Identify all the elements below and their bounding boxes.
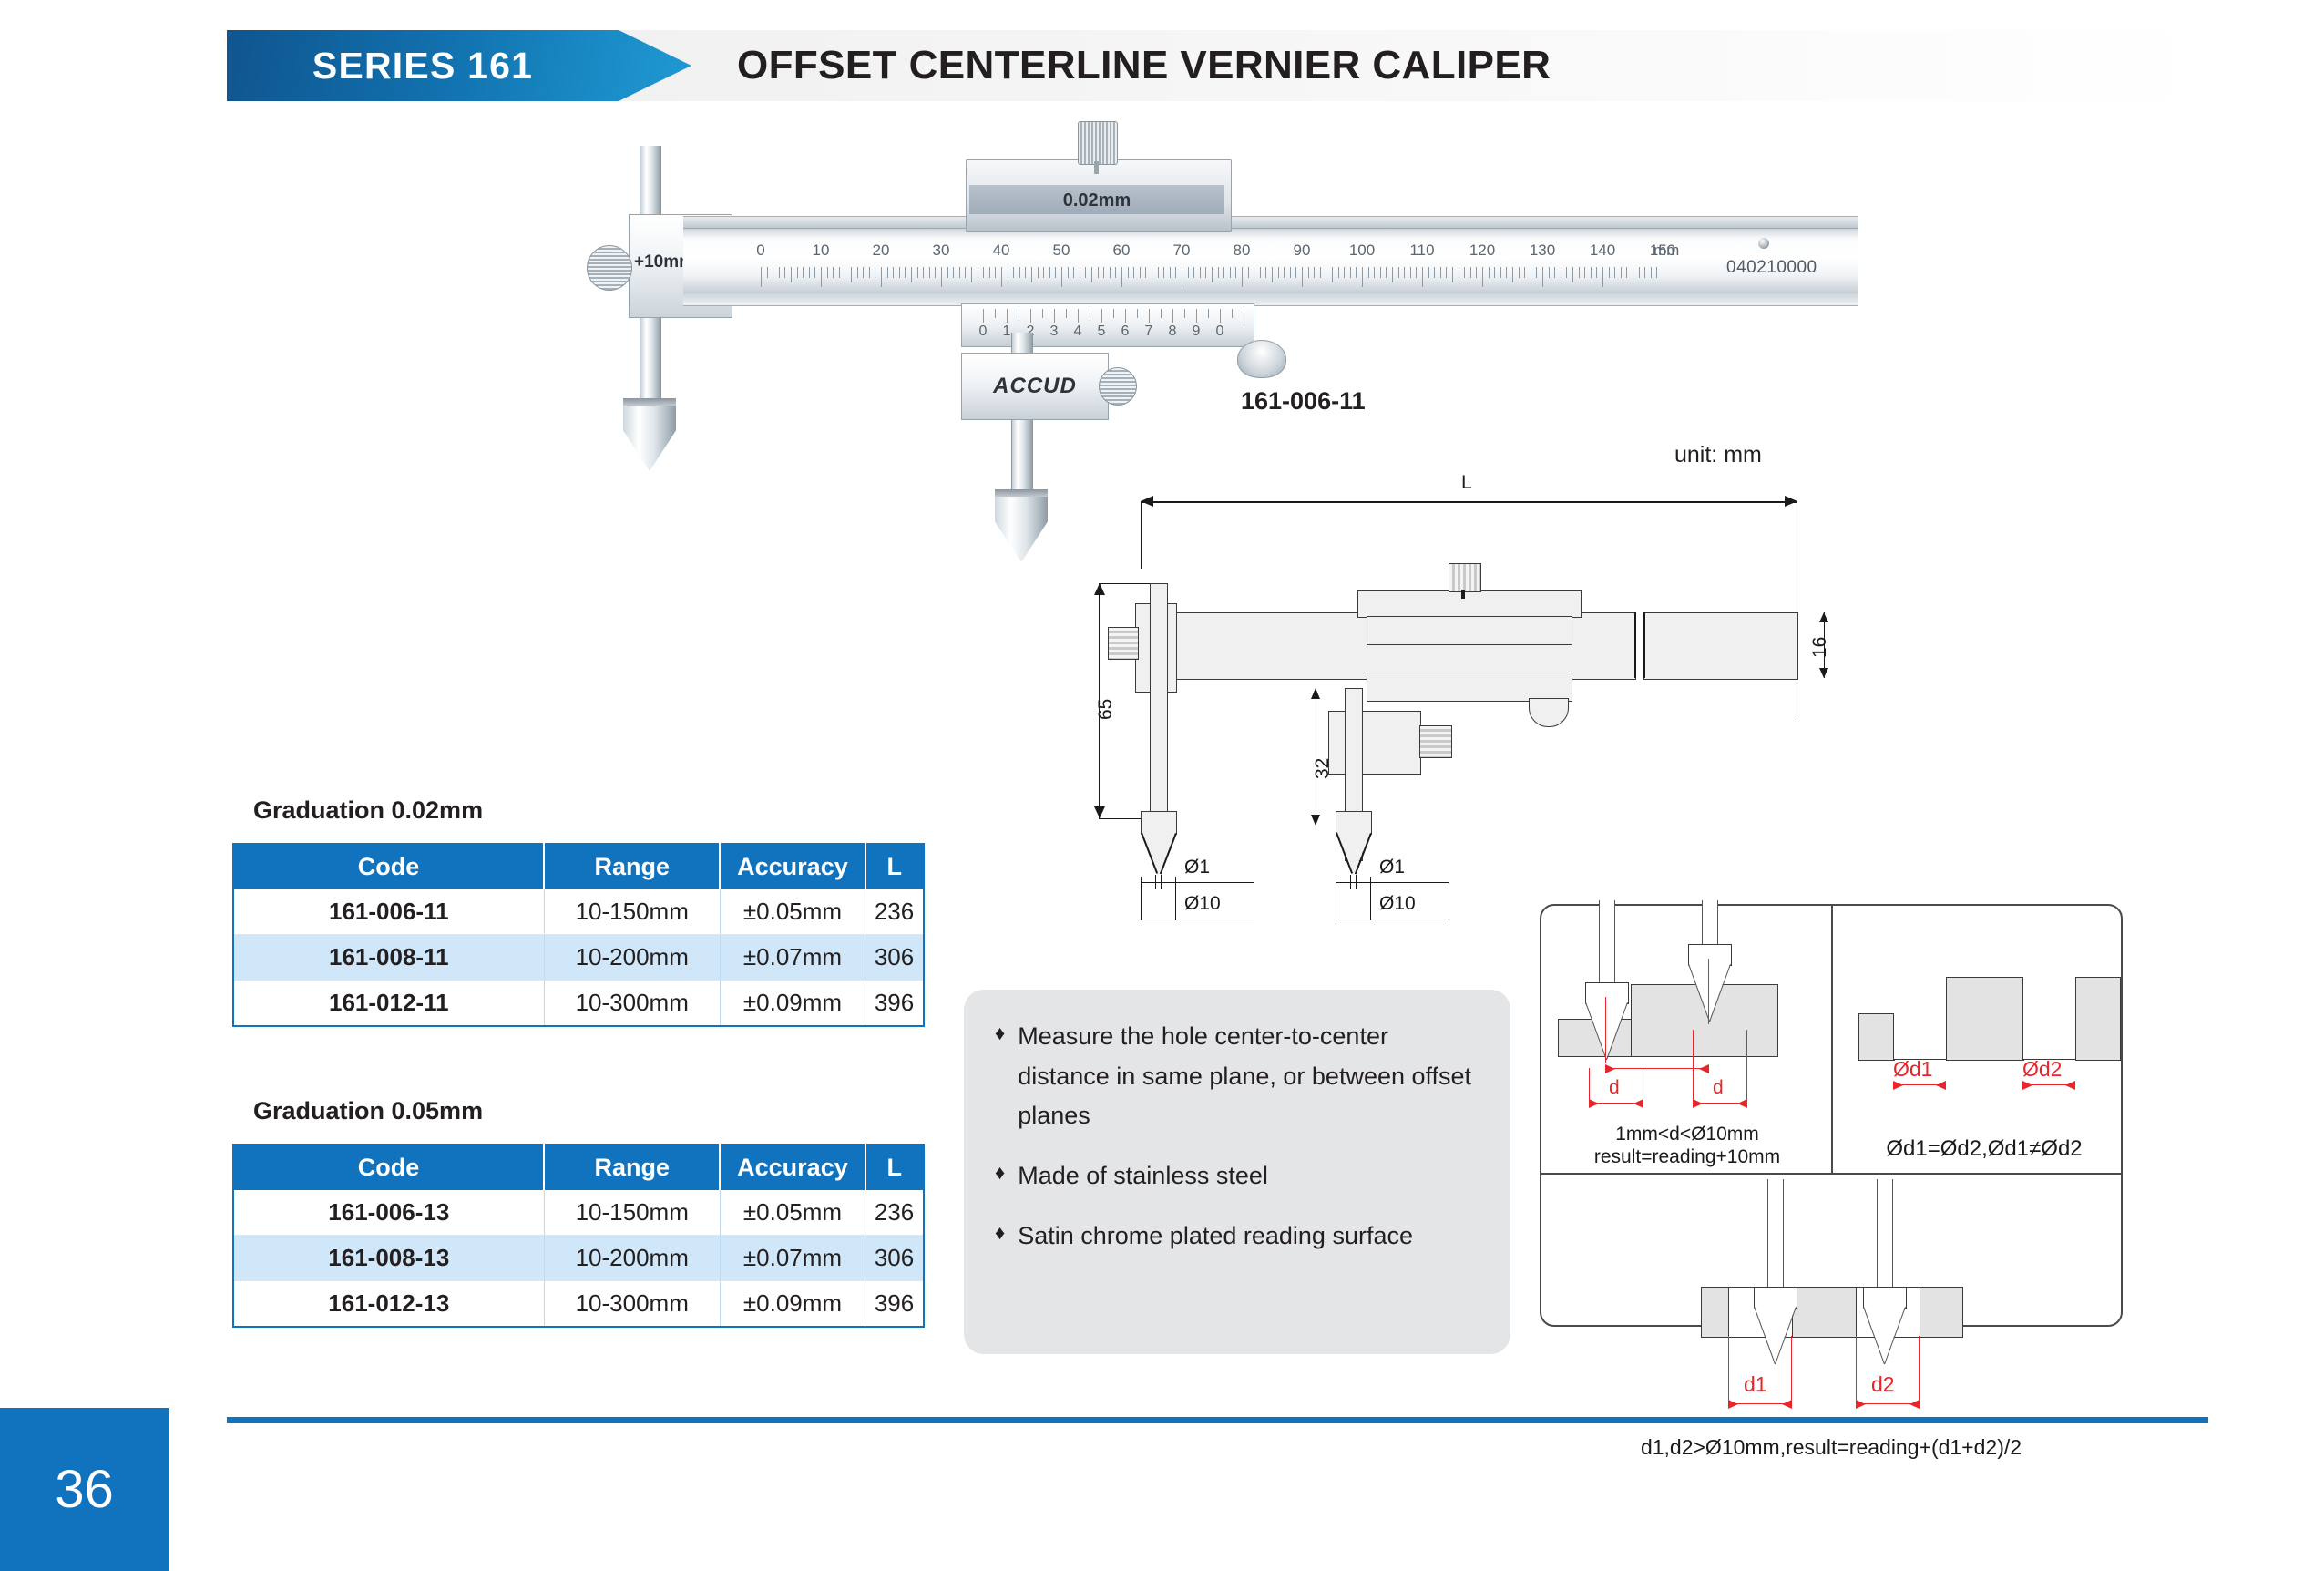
brand-label: ACCUD xyxy=(993,374,1077,399)
p3-dim2-arrow-b xyxy=(1909,1400,1920,1409)
main-scale-graduation xyxy=(767,267,768,278)
main-scale-graduation xyxy=(1368,267,1369,278)
page-number: 36 xyxy=(0,1408,169,1571)
dim-32-arrow-bot xyxy=(1311,815,1320,826)
main-scale-graduation xyxy=(1464,267,1465,278)
graduation-label: 0.02mm xyxy=(969,187,1224,214)
main-scale-graduation xyxy=(1163,267,1164,278)
dim-16-arrow-top xyxy=(1819,612,1828,622)
dim-d1-right-tick-b xyxy=(1356,875,1357,889)
main-scale-graduation xyxy=(1013,267,1014,278)
drawing-lower-tip-cone xyxy=(1336,833,1370,877)
main-scale-graduation xyxy=(1446,267,1447,278)
main-scale-graduation xyxy=(1290,267,1291,278)
table-1-title: Graduation 0.02mm xyxy=(253,796,483,825)
main-scale-graduation xyxy=(1091,267,1092,282)
beam-break-1 xyxy=(1634,612,1636,678)
main-scale-graduation xyxy=(1248,267,1249,278)
main-scale-graduation xyxy=(1572,267,1573,282)
p3-workpiece-mid xyxy=(1792,1287,1858,1338)
feature-text: Made of stainless steel xyxy=(1018,1156,1268,1196)
main-scale-graduation xyxy=(773,267,773,278)
col-header-accuracy: Accuracy xyxy=(720,844,865,889)
vernier-graduation xyxy=(1244,309,1244,323)
p1-dim-right-ext-b xyxy=(1746,1030,1747,1106)
main-scale-graduation xyxy=(1428,267,1429,278)
vernier-graduation xyxy=(1078,309,1079,323)
main-scale-tick-label: 100 xyxy=(1349,241,1375,260)
dim-l-ext-right xyxy=(1797,501,1797,720)
page-header: SERIES 161 OFFSET CENTERLINE VERNIER CAL… xyxy=(227,30,2208,101)
main-scale-graduation xyxy=(761,267,762,287)
dim-16-label: 16 xyxy=(1809,637,1831,658)
main-scale-graduation xyxy=(1193,267,1194,278)
main-scale-graduation xyxy=(821,267,822,287)
p3-caption: d1,d2>Ø10mm,result=reading+(d1+d2)/2 xyxy=(1558,1434,2104,1461)
cell-range: 10-300mm xyxy=(544,981,720,1027)
p2-block-right xyxy=(2075,977,2121,1061)
dim-d1-left-tick-a xyxy=(1155,875,1156,889)
main-scale-graduation xyxy=(1356,267,1357,278)
main-scale-graduation xyxy=(1470,267,1471,278)
vernier-graduation xyxy=(1113,309,1114,318)
dim-l-line xyxy=(1141,501,1797,503)
vernier-graduation xyxy=(1137,309,1138,318)
main-scale-graduation xyxy=(995,267,996,278)
cell-range: 10-300mm xyxy=(544,1281,720,1328)
feature-item: ♦ Satin chrome plated reading surface xyxy=(995,1217,1479,1257)
beam xyxy=(683,228,1858,295)
measuring-methods-panel: d d 1mm<d<Ø10mm result=reading+10mm Ød1 … xyxy=(1540,904,2123,1327)
main-scale-graduation xyxy=(1602,267,1603,287)
p3-dim1-label: d1 xyxy=(1744,1372,1767,1397)
main-scale-graduation xyxy=(1651,267,1652,278)
cell-range: 10-150mm xyxy=(544,1190,720,1236)
table-row[interactable]: 161-012-11 10-300mm ±0.09mm 396 xyxy=(233,981,924,1027)
drawing-slider-top xyxy=(1357,590,1582,618)
dim-l-arrow-left xyxy=(1141,496,1153,507)
col-header-range: Range xyxy=(544,844,720,889)
main-scale-graduation xyxy=(965,267,966,278)
main-scale-graduation xyxy=(1410,267,1411,278)
dim-l-ext-left xyxy=(1141,501,1142,569)
table-header-row: Code Range Accuracy L xyxy=(233,844,924,889)
main-scale-graduation xyxy=(1272,267,1273,282)
cell-accuracy: ±0.09mm xyxy=(720,1281,865,1328)
p1-span-arrow-left xyxy=(1605,1064,1615,1073)
main-scale-graduation xyxy=(1218,267,1219,278)
p2-dim2-arrow-b xyxy=(2065,1081,2075,1090)
main-scale-graduation xyxy=(1320,267,1321,278)
main-scale-graduation xyxy=(1055,267,1056,278)
main-scale-graduation xyxy=(1362,267,1363,287)
beam-unit-mark: mm xyxy=(1653,241,1679,260)
col-header-l: L xyxy=(865,1145,924,1190)
p1-probe-collar-left xyxy=(1585,982,1629,1004)
p3-dim1-arrow-a xyxy=(1728,1400,1738,1409)
main-scale-graduation xyxy=(1579,267,1580,278)
main-scale-tick-label: 130 xyxy=(1530,241,1555,260)
diamond-bullet-icon: ♦ xyxy=(995,1156,1005,1196)
table-row[interactable]: 161-006-11 10-150mm ±0.05mm 236 xyxy=(233,889,924,935)
main-scale-graduation xyxy=(1031,267,1032,282)
main-scale-graduation xyxy=(989,267,990,278)
drawing-lower-jaw-knob xyxy=(1419,725,1452,758)
main-scale-graduation xyxy=(1284,267,1285,278)
cell-l: 306 xyxy=(865,935,924,981)
main-scale-graduation xyxy=(1374,267,1375,278)
main-scale-graduation xyxy=(1098,267,1099,278)
main-scale-tick-label: 10 xyxy=(813,241,830,260)
vernier-graduation xyxy=(1019,309,1019,318)
main-scale-graduation xyxy=(1549,267,1550,278)
vernier-graduation xyxy=(1042,309,1043,318)
main-scale-graduation xyxy=(1422,267,1423,287)
main-scale-tick-label: 120 xyxy=(1469,241,1495,260)
vernier-graduation xyxy=(1054,309,1055,323)
vernier-tick-label: 4 xyxy=(1074,323,1082,340)
p1-dim-right-arrow-a xyxy=(1693,1099,1703,1108)
main-scale-graduation xyxy=(1128,267,1129,278)
main-scale-graduation xyxy=(1434,267,1435,278)
drawing-fixed-rod xyxy=(1150,583,1168,813)
p1-probe-collar-right xyxy=(1688,944,1732,966)
p1-centerline-left xyxy=(1605,997,1606,1063)
main-scale-graduation xyxy=(1531,267,1531,278)
p1-dim-left-label: d xyxy=(1609,1077,1620,1099)
main-scale-graduation xyxy=(1512,267,1513,282)
vernier-tick-label: 5 xyxy=(1098,323,1106,340)
main-scale-graduation xyxy=(1295,267,1296,278)
drawing-knob-stem xyxy=(1461,590,1465,599)
table-row[interactable]: 161-012-13 10-300mm ±0.09mm 396 xyxy=(233,1281,924,1328)
p3-dim2-label: d2 xyxy=(1871,1372,1895,1397)
technical-drawing: L 65 16 32 Ø1 Ø10 xyxy=(1084,456,1877,948)
main-scale-graduation xyxy=(971,267,972,282)
dim-32-arrow-top xyxy=(1311,688,1320,699)
vernier-graduation xyxy=(1125,309,1126,323)
dim-d10-left-label: Ø10 xyxy=(1184,893,1221,915)
main-scale-graduation xyxy=(1566,267,1567,278)
p1-dim-left-arrow-b xyxy=(1633,1099,1643,1108)
main-scale-graduation xyxy=(923,267,924,278)
p2-dim2-label: Ød2 xyxy=(2022,1057,2062,1082)
main-scale-graduation xyxy=(1536,267,1537,278)
main-scale-graduation xyxy=(959,267,960,278)
main-scale-graduation xyxy=(1332,267,1333,282)
table-2-title: Graduation 0.05mm xyxy=(253,1097,483,1125)
model-number: 161-006-11 xyxy=(1241,387,1366,416)
cell-l: 236 xyxy=(865,1190,924,1236)
main-scale-graduation xyxy=(1506,267,1507,278)
dim-d10-right-leader xyxy=(1370,919,1449,919)
beam-break-2 xyxy=(1643,612,1645,678)
dim-16-arrow-bot xyxy=(1819,668,1828,678)
main-scale-graduation xyxy=(1152,267,1152,282)
diamond-bullet-icon: ♦ xyxy=(995,1017,1005,1136)
main-scale-graduation xyxy=(1482,267,1483,287)
main-scale-graduation xyxy=(1025,267,1026,278)
col-header-l: L xyxy=(865,844,924,889)
main-scale-graduation xyxy=(1489,267,1490,278)
beam-rivet-right xyxy=(1758,238,1769,249)
dim-d10-right-label: Ø10 xyxy=(1379,893,1416,915)
vernier-tick-label: 3 xyxy=(1050,323,1059,340)
main-scale-graduation xyxy=(887,267,888,278)
main-scale-graduation xyxy=(1145,267,1146,278)
p3-dim1-arrow-b xyxy=(1782,1400,1792,1409)
p2-dim2-arrow-a xyxy=(2022,1081,2032,1090)
main-scale-graduation xyxy=(784,267,785,278)
main-scale-graduation xyxy=(1260,267,1261,278)
main-scale-graduation xyxy=(1008,267,1008,278)
moving-jaw-knob xyxy=(1099,367,1137,406)
table-row[interactable]: 161-008-11 10-200mm ±0.07mm 306 xyxy=(233,935,924,981)
main-scale-tick-label: 20 xyxy=(873,241,890,260)
table-row[interactable]: 161-006-13 10-150mm ±0.05mm 236 xyxy=(233,1190,924,1236)
vernier-graduation xyxy=(1007,309,1008,323)
p3-dim2-ext-b xyxy=(1919,1336,1920,1407)
cell-range: 10-200mm xyxy=(544,1236,720,1281)
main-scale-graduation xyxy=(1392,267,1393,282)
vernier-graduation xyxy=(995,309,996,318)
main-scale-graduation xyxy=(845,267,845,278)
dim-65-ext-top xyxy=(1099,583,1152,584)
main-scale-graduation xyxy=(953,267,954,278)
vernier-graduation xyxy=(1172,309,1173,323)
beam-bottom-edge xyxy=(683,293,1858,306)
main-scale-graduation xyxy=(1103,267,1104,278)
main-scale-graduation xyxy=(1001,267,1002,287)
vernier-graduation xyxy=(1149,309,1150,323)
main-scale-graduation xyxy=(833,267,834,278)
main-scale-tick-label: 50 xyxy=(1053,241,1070,260)
cell-code: 161-006-11 xyxy=(233,889,544,935)
main-scale-graduation xyxy=(1254,267,1254,278)
main-scale-graduation xyxy=(1302,267,1303,287)
main-scale-graduation xyxy=(1068,267,1069,278)
main-scale-graduation xyxy=(1085,267,1086,278)
main-scale-tick-label: 60 xyxy=(1113,241,1131,260)
main-scale-graduation xyxy=(1115,267,1116,278)
main-scale-graduation xyxy=(1614,267,1615,278)
dim-l-arrow-right xyxy=(1785,496,1797,507)
main-scale-tick-label: 110 xyxy=(1409,241,1434,260)
main-scale-graduation xyxy=(1314,267,1315,278)
main-scale-graduation xyxy=(851,267,852,282)
main-scale-graduation xyxy=(1212,267,1213,282)
col-header-code: Code xyxy=(233,1145,544,1190)
main-scale-graduation xyxy=(1230,267,1231,278)
main-scale-graduation xyxy=(1158,267,1159,278)
dim-d10-right-ext-r xyxy=(1370,877,1371,920)
feature-text: Satin chrome plated reading surface xyxy=(1018,1217,1413,1257)
dim-d1-left-leader xyxy=(1175,882,1254,883)
p2-caption: Ød1=Ød2,Ød1≠Ød2 xyxy=(1848,1135,2121,1163)
main-scale-graduation xyxy=(1170,267,1171,278)
main-scale-graduation xyxy=(1265,267,1266,278)
cell-range: 10-150mm xyxy=(544,889,720,935)
main-scale-graduation xyxy=(1626,267,1627,278)
drawing-slider-lock-knob xyxy=(1449,563,1481,592)
p2-block-mid xyxy=(1946,977,2024,1061)
drawing-fixed-jaw-knob xyxy=(1108,627,1139,660)
main-scale-graduation xyxy=(947,267,948,278)
vernier-graduation xyxy=(1090,309,1090,318)
main-scale-graduation xyxy=(1440,267,1441,278)
cell-code: 161-008-11 xyxy=(233,935,544,981)
dim-65-arrow-top xyxy=(1094,583,1105,595)
main-scale-graduation xyxy=(1494,267,1495,278)
dim-d1-right-tick-a xyxy=(1350,875,1351,889)
cell-accuracy: ±0.07mm xyxy=(720,935,865,981)
moving-jaw-conical-tip xyxy=(995,497,1048,562)
p3-dim1-ext-b xyxy=(1791,1336,1792,1407)
feature-item: ♦ Measure the hole center-to-center dist… xyxy=(995,1017,1479,1136)
page-title: OFFSET CENTERLINE VERNIER CALIPER xyxy=(737,30,1551,101)
p3-dim2-ext-a xyxy=(1856,1336,1857,1407)
main-scale-graduation xyxy=(1308,267,1309,278)
main-scale-graduation xyxy=(814,267,815,278)
vernier-tick-label: 6 xyxy=(1121,323,1130,340)
vernier-tick-label: 8 xyxy=(1169,323,1177,340)
cell-accuracy: ±0.09mm xyxy=(720,981,865,1027)
col-header-accuracy: Accuracy xyxy=(720,1145,865,1190)
main-scale-graduation xyxy=(1386,267,1387,278)
main-scale-tick-label: 70 xyxy=(1173,241,1191,260)
main-scale-tick-label: 140 xyxy=(1590,241,1615,260)
drawing-lower-jaw-block xyxy=(1328,711,1421,775)
main-scale-graduation xyxy=(1519,267,1520,278)
main-scale-graduation xyxy=(1080,267,1080,278)
main-scale-graduation xyxy=(893,267,894,278)
main-scale-graduation xyxy=(1038,267,1039,278)
main-scale-graduation xyxy=(1073,267,1074,278)
cell-code: 161-012-13 xyxy=(233,1281,544,1328)
p1-caption-line1: 1mm<d<Ø10mm xyxy=(1558,1123,1817,1146)
main-scale-graduation xyxy=(1175,267,1176,278)
dim-32-line xyxy=(1316,688,1316,825)
main-scale-graduation xyxy=(1584,267,1585,278)
main-scale-graduation xyxy=(857,267,858,278)
main-scale-graduation xyxy=(1380,267,1381,278)
main-scale-graduation xyxy=(1338,267,1339,278)
main-scale-graduation xyxy=(1596,267,1597,278)
spec-table-graduation-005: Code Range Accuracy L 161-006-13 10-150m… xyxy=(232,1144,925,1328)
p1-probe-shaft-left xyxy=(1599,900,1615,982)
main-scale-graduation xyxy=(1500,267,1501,278)
main-scale-graduation xyxy=(791,267,792,282)
methods-vertical-divider xyxy=(1831,906,1833,1173)
table-row[interactable]: 161-008-13 10-200mm ±0.07mm 306 xyxy=(233,1236,924,1281)
dim-d1-left-tick-b xyxy=(1161,875,1162,889)
main-scale-graduation xyxy=(983,267,984,278)
main-scale-graduation xyxy=(869,267,870,278)
footer-rule xyxy=(227,1417,2208,1423)
main-scale-graduation xyxy=(1326,267,1326,278)
p3-collar-left xyxy=(1754,1287,1797,1309)
cell-code: 161-012-11 xyxy=(233,981,544,1027)
vernier-tick-label: 1 xyxy=(1003,323,1011,340)
dim-65-label: 65 xyxy=(1095,699,1117,720)
dim-d1-right-label: Ø1 xyxy=(1379,857,1405,878)
main-scale-graduation xyxy=(1235,267,1236,278)
main-scale-graduation xyxy=(1644,267,1645,278)
feature-text: Measure the hole center-to-center distan… xyxy=(1018,1017,1479,1136)
p2-block-left xyxy=(1858,1013,1895,1061)
main-scale-graduation xyxy=(1476,267,1477,278)
main-scale-graduation xyxy=(1278,267,1279,278)
p2-hole-2 xyxy=(2022,977,2077,1060)
methods-horizontal-divider xyxy=(1541,1173,2121,1175)
main-scale-graduation xyxy=(1398,267,1399,278)
main-scale-graduation xyxy=(1404,267,1405,278)
main-scale-tick-label: 80 xyxy=(1234,241,1251,260)
vernier-graduation xyxy=(1101,309,1102,323)
fixed-jaw-conical-tip xyxy=(623,406,676,471)
main-scale-graduation xyxy=(917,267,918,278)
main-scale-graduation xyxy=(1049,267,1050,278)
main-scale-graduation xyxy=(1639,267,1640,278)
main-scale-graduation xyxy=(899,267,900,278)
p1-dim-right-ext-a xyxy=(1693,1030,1694,1106)
main-scale-graduation xyxy=(1121,267,1122,287)
series-label: SERIES 161 xyxy=(227,30,619,101)
table-header-row: Code Range Accuracy L xyxy=(233,1145,924,1190)
main-scale-graduation xyxy=(1621,267,1622,278)
brand-block: ACCUD xyxy=(961,353,1109,420)
slider-lock-knob xyxy=(1078,121,1118,165)
p1-dim-left-arrow-a xyxy=(1589,1099,1599,1108)
main-scale-graduation xyxy=(875,267,875,278)
col-header-code: Code xyxy=(233,844,544,889)
vernier-graduation xyxy=(1161,309,1162,318)
col-header-range: Range xyxy=(544,1145,720,1190)
vernier-tick-label: 7 xyxy=(1145,323,1153,340)
dim-d1-left-label: Ø1 xyxy=(1184,857,1210,878)
cell-range: 10-200mm xyxy=(544,935,720,981)
main-scale-graduation xyxy=(839,267,840,278)
main-scale-graduation xyxy=(1542,267,1543,287)
cell-l: 396 xyxy=(865,1281,924,1328)
main-scale-graduation xyxy=(827,267,828,278)
p1-probe-shaft-right xyxy=(1702,900,1718,944)
cell-accuracy: ±0.05mm xyxy=(720,889,865,935)
p1-caption-line2: result=reading+10mm xyxy=(1558,1145,1817,1169)
p3-workpiece-right xyxy=(1920,1287,1963,1338)
drawing-fixed-tip-body xyxy=(1141,811,1177,835)
main-scale-graduation xyxy=(941,267,942,287)
p2-hole-1 xyxy=(1893,1013,1948,1060)
fixed-jaw-knob xyxy=(587,245,632,291)
p3-probe-shaft-right xyxy=(1877,1179,1893,1287)
dim-l-label: L xyxy=(1461,472,1472,494)
dim-d10-left-ext-l xyxy=(1141,877,1142,920)
dim-32-label: 32 xyxy=(1312,758,1334,779)
main-scale-graduation xyxy=(935,267,936,278)
p2-dim1-arrow-a xyxy=(1893,1081,1903,1090)
p2-dim1-arrow-b xyxy=(1936,1081,1946,1090)
main-scale-graduation xyxy=(1452,267,1453,282)
main-scale-graduation xyxy=(1200,267,1201,278)
p1-span-arrow-right xyxy=(1699,1064,1709,1073)
main-scale-graduation xyxy=(1110,267,1111,278)
main-scale-graduation xyxy=(803,267,804,278)
main-scale-graduation xyxy=(1524,267,1525,278)
drawing-beam-right xyxy=(1643,612,1798,680)
p3-workpiece-left xyxy=(1701,1287,1730,1338)
vernier-graduation xyxy=(1184,309,1185,318)
